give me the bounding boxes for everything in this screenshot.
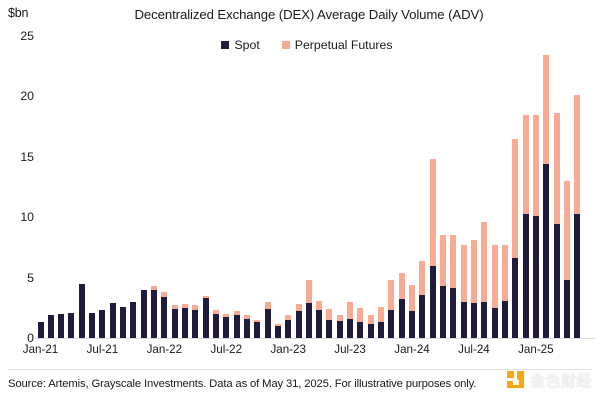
bar-segment-spot [378, 322, 384, 338]
bar-group[interactable] [461, 36, 467, 338]
x-axis-tick-label: Jan-22 [147, 343, 182, 356]
bar-group[interactable] [409, 36, 415, 338]
bar-segment-spot [450, 288, 456, 338]
bar-group[interactable] [161, 36, 167, 338]
bar-segment-spot [192, 310, 198, 338]
bar-segment-spot [388, 310, 394, 338]
bar-group[interactable] [378, 36, 384, 338]
bar-segment-spot [471, 303, 477, 338]
bar-group[interactable] [110, 36, 116, 338]
bar-segment-perpetual-futures [564, 181, 570, 280]
bar-segment-perpetual-futures [399, 273, 405, 300]
bar-segment-spot [461, 302, 467, 338]
bar-segment-perpetual-futures [192, 305, 198, 310]
bar-segment-perpetual-futures [254, 320, 260, 322]
bar-group[interactable] [306, 36, 312, 338]
y-axis-tick-15: 15 [0, 150, 34, 164]
bar-segment-perpetual-futures [409, 285, 415, 312]
bar-segment-perpetual-futures [378, 307, 384, 323]
bar-group[interactable] [533, 36, 539, 338]
y-axis-tick-10: 10 [0, 210, 34, 224]
bar-segment-perpetual-futures [172, 305, 178, 309]
bar-segment-spot [399, 299, 405, 338]
bar-segment-perpetual-futures [574, 95, 580, 213]
bar-segment-spot [120, 307, 126, 338]
bar-group[interactable] [130, 36, 136, 338]
bar-segment-perpetual-futures [296, 304, 302, 311]
bar-group[interactable] [213, 36, 219, 338]
bar-segment-spot [38, 322, 44, 338]
bar-group[interactable] [296, 36, 302, 338]
bar-segment-spot [161, 297, 167, 338]
bar-segment-perpetual-futures [512, 139, 518, 259]
bar-group[interactable] [203, 36, 209, 338]
bar-segment-spot [326, 320, 332, 338]
bar-group[interactable] [502, 36, 508, 338]
bar-segment-perpetual-futures [523, 115, 529, 214]
bar-segment-perpetual-futures [244, 315, 250, 319]
bar-segment-spot [99, 310, 105, 338]
bar-group[interactable] [172, 36, 178, 338]
bar-segment-spot [481, 302, 487, 338]
bar-group[interactable] [574, 36, 580, 338]
bar-segment-perpetual-futures [285, 315, 291, 320]
bar-segment-spot [430, 266, 436, 338]
bar-segment-spot [48, 315, 54, 338]
bar-segment-perpetual-futures [554, 113, 560, 224]
bar-segment-spot [316, 310, 322, 338]
y-axis-tick-5: 5 [0, 271, 34, 285]
x-axis-tick-label: Jan-23 [270, 343, 305, 356]
bar-segment-spot [574, 214, 580, 338]
bar-segment-spot [213, 314, 219, 338]
chart-container: $bn Decentralized Exchange (DEX) Average… [0, 0, 600, 401]
watermark-logo-icon [507, 371, 526, 390]
bar-segment-spot [130, 302, 136, 338]
bar-group[interactable] [419, 36, 425, 338]
bar-segment-perpetual-futures [440, 235, 446, 286]
bar-segment-spot [141, 290, 147, 338]
bar-group[interactable] [554, 36, 560, 338]
plot-area [35, 36, 593, 338]
chart-title: Decentralized Exchange (DEX) Average Dai… [0, 7, 600, 22]
bar-segment-spot [337, 321, 343, 338]
bar-group[interactable] [285, 36, 291, 338]
bar-segment-perpetual-futures [306, 280, 312, 303]
bar-group[interactable] [523, 36, 529, 338]
bar-segment-spot [357, 322, 363, 338]
source-note: Source: Artemis, Grayscale Investments. … [8, 378, 476, 390]
bar-segment-perpetual-futures [234, 311, 240, 315]
bar-group[interactable] [430, 36, 436, 338]
bar-segment-perpetual-futures [223, 314, 229, 318]
bar-segment-spot [554, 224, 560, 338]
x-axis-tick-label: Jan-24 [394, 343, 429, 356]
bar-group[interactable] [182, 36, 188, 338]
bar-group[interactable] [223, 36, 229, 338]
bar-segment-spot [523, 214, 529, 338]
bar-group[interactable] [440, 36, 446, 338]
bar-group[interactable] [192, 36, 198, 338]
bar-segment-spot [512, 258, 518, 338]
bar-segment-spot [89, 313, 95, 338]
watermark: 金色财经 [507, 370, 592, 391]
bar-group[interactable] [492, 36, 498, 338]
bar-segment-perpetual-futures [203, 296, 209, 298]
bar-segment-perpetual-futures [481, 222, 487, 302]
bar-segment-spot [172, 309, 178, 338]
bar-group[interactable] [399, 36, 405, 338]
bar-segment-perpetual-futures [461, 245, 467, 302]
bar-segment-perpetual-futures [182, 304, 188, 308]
bar-segment-spot [296, 311, 302, 338]
x-axis-tick-label: Jul-23 [334, 343, 366, 356]
bar-segment-spot [203, 298, 209, 338]
bar-group[interactable] [48, 36, 54, 338]
bar-segment-spot [285, 320, 291, 338]
bar-segment-spot [564, 280, 570, 338]
bar-segment-perpetual-futures [347, 302, 353, 319]
bar-segment-spot [275, 326, 281, 338]
bar-group[interactable] [120, 36, 126, 338]
bar-segment-perpetual-futures [316, 301, 322, 311]
bar-segment-spot [223, 317, 229, 338]
bar-group[interactable] [79, 36, 85, 338]
bar-group[interactable] [347, 36, 353, 338]
bar-segment-perpetual-futures [388, 280, 394, 310]
x-axis-baseline [35, 338, 595, 339]
bar-segment-perpetual-futures [430, 159, 436, 265]
bar-group[interactable] [357, 36, 363, 338]
bar-group[interactable] [244, 36, 250, 338]
bar-segment-spot [234, 315, 240, 338]
bar-segment-perpetual-futures [450, 235, 456, 288]
bar-group[interactable] [89, 36, 95, 338]
bar-segment-perpetual-futures [161, 292, 167, 297]
bar-group[interactable] [58, 36, 64, 338]
bar-segment-spot [182, 308, 188, 338]
watermark-text: 金色财经 [530, 370, 592, 391]
bar-segment-spot [244, 319, 250, 338]
bar-segment-spot [409, 311, 415, 338]
bar-segment-perpetual-futures [419, 261, 425, 295]
x-axis-tick-label: Jan-21 [23, 343, 58, 356]
bar-group[interactable] [543, 36, 549, 338]
bar-segment-spot [368, 324, 374, 338]
bar-group[interactable] [141, 36, 147, 338]
bar-segment-spot [68, 313, 74, 338]
bar-group[interactable] [316, 36, 322, 338]
bar-segment-perpetual-futures [492, 245, 498, 308]
bar-segment-spot [347, 319, 353, 338]
bar-segment-spot [265, 309, 271, 338]
bar-group[interactable] [471, 36, 477, 338]
bar-group[interactable] [388, 36, 394, 338]
bar-segment-perpetual-futures [533, 115, 539, 216]
bar-group[interactable] [99, 36, 105, 338]
bar-segment-perpetual-futures [213, 310, 219, 314]
x-axis-tick-label: Jul-21 [87, 343, 119, 356]
bar-group[interactable] [265, 36, 271, 338]
bar-segment-spot [306, 303, 312, 338]
bar-segment-spot [419, 295, 425, 338]
bar-group[interactable] [368, 36, 374, 338]
footer-divider [8, 369, 592, 370]
bar-group[interactable] [254, 36, 260, 338]
bar-segment-perpetual-futures [275, 324, 281, 326]
bar-segment-spot [110, 303, 116, 338]
bar-segment-spot [58, 314, 64, 338]
bar-group[interactable] [151, 36, 157, 338]
bar-segment-spot [151, 290, 157, 338]
bar-group[interactable] [275, 36, 281, 338]
x-axis-tick-label: Jul-24 [458, 343, 490, 356]
bar-segment-perpetual-futures [357, 308, 363, 322]
bar-segment-perpetual-futures [368, 315, 374, 323]
bar-group[interactable] [450, 36, 456, 338]
bar-group[interactable] [512, 36, 518, 338]
bar-group[interactable] [326, 36, 332, 338]
x-axis-tick-label: Jan-25 [518, 343, 553, 356]
bar-segment-perpetual-futures [543, 55, 549, 164]
bar-segment-perpetual-futures [265, 302, 271, 309]
bar-segment-spot [502, 301, 508, 338]
bar-segment-spot [254, 322, 260, 338]
x-axis-tick-label: Jul-22 [210, 343, 242, 356]
bar-segment-perpetual-futures [337, 315, 343, 321]
bar-segment-perpetual-futures [471, 240, 477, 303]
bar-group[interactable] [38, 36, 44, 338]
bar-group[interactable] [337, 36, 343, 338]
bar-segment-spot [79, 284, 85, 338]
bar-group[interactable] [481, 36, 487, 338]
bar-group[interactable] [68, 36, 74, 338]
y-axis-tick-20: 20 [0, 89, 34, 103]
bar-segment-spot [533, 216, 539, 338]
bar-segment-spot [440, 286, 446, 338]
bar-segment-perpetual-futures [151, 286, 157, 290]
bar-group[interactable] [234, 36, 240, 338]
bar-segment-perpetual-futures [326, 309, 332, 320]
bar-segment-spot [543, 164, 549, 338]
bar-segment-perpetual-futures [502, 245, 508, 301]
bar-segment-spot [492, 308, 498, 338]
bar-group[interactable] [564, 36, 570, 338]
